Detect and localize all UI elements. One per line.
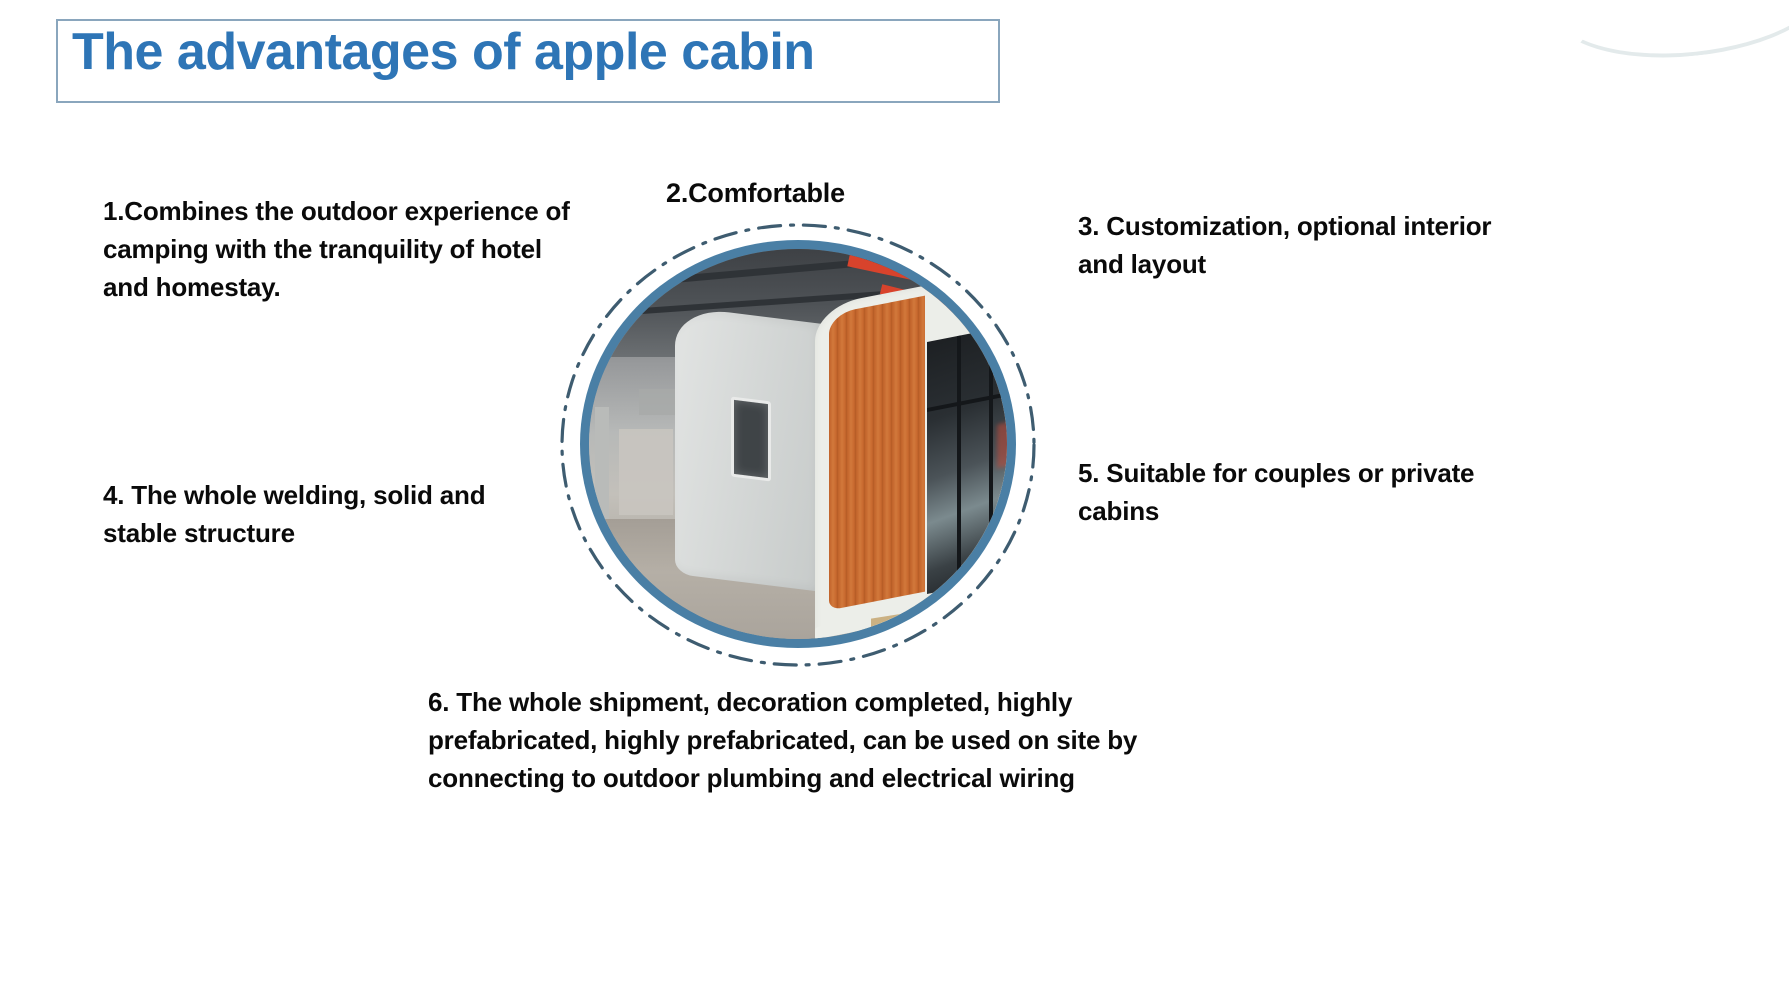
cabin-photo-group [556,219,1040,671]
window-mullion [957,335,961,588]
cabin-side-window [731,397,771,482]
advantage-item-1: 1.Combines the outdoor experience of cam… [103,193,593,307]
window-mullion [927,390,1007,412]
cabin-glass-door [927,324,1007,594]
advantage-item-3: 3. Customization, optional interior and … [1078,208,1498,284]
advantage-item-6: 6. The whole shipment, decoration comple… [428,684,1148,798]
photo-ring-border [580,240,1016,648]
glass-reflection [997,421,1007,468]
cabin-structure [675,281,1007,621]
cabin-wood-slats [829,296,925,611]
advantage-item-4: 4. The whole welding, solid and stable s… [103,477,553,553]
page-title: The advantages of apple cabin [72,26,815,78]
factory-machinery [619,429,673,515]
advantage-item-2: 2.Comfortable [666,174,996,213]
advantage-item-5: 5. Suitable for couples or private cabin… [1078,455,1498,531]
factory-machinery [595,407,609,519]
window-mullion [989,329,993,582]
corner-arc-decoration [1546,0,1789,70]
cabin-photo-scene [589,249,1007,639]
cabin-photo [589,249,1007,639]
